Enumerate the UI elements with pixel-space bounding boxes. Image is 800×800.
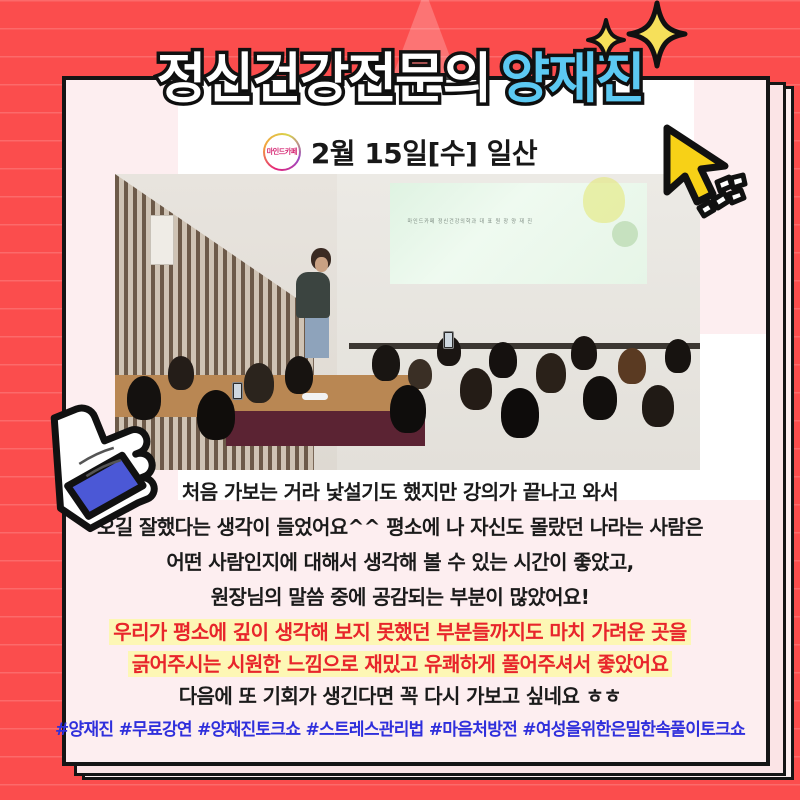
body-line-7: 다음에 또 기회가 생긴다면 꼭 다시 가보고 싶네요 ㅎㅎ bbox=[0, 682, 800, 711]
photo-speaker-face bbox=[315, 257, 328, 272]
body-line-3: 어떤 사람인지에 대해서 생각해 볼 수 있는 시간이 좋았고, bbox=[0, 548, 800, 577]
brand-logo-text: 마인드카페 bbox=[267, 147, 297, 158]
poster-canvas: 정신건강전문의양재진 마인드카페 2월 15일[수] 일산 마인드카페 정신건강… bbox=[0, 0, 800, 800]
photo-slide-balloon-graphic bbox=[583, 177, 625, 223]
photo-slide-text: 마인드카페 정신건강의학과 대 표 원 장 양 재 진 bbox=[408, 218, 607, 226]
brand-logo-icon: 마인드카페 bbox=[263, 133, 301, 171]
body-line-6-highlighted: 긁어주시는 시원한 느낌으로 재밌고 유쾌하게 풀어주셔서 좋았어요 bbox=[0, 650, 800, 679]
lecture-photo: 마인드카페 정신건강의학과 대 표 원 장 양 재 진 bbox=[115, 174, 700, 470]
mouse-cursor-icon bbox=[655, 120, 755, 235]
event-date-text: 2월 15일[수] 일산 bbox=[311, 132, 537, 172]
title-main-text: 정신건강전문의 bbox=[157, 52, 491, 106]
photo-wall-panel bbox=[150, 215, 174, 265]
photo-audience bbox=[115, 328, 700, 470]
sparkle-large-icon bbox=[626, 0, 688, 75]
photo-speaker-body bbox=[296, 272, 330, 318]
hashtag-list: #양재진 #무료강연 #양재진토크쇼 #스트레스관리법 #마음처방전 #여성을위… bbox=[0, 715, 800, 740]
body-line-4: 원장님의 말씀 중에 공감되는 부분이 많았어요! bbox=[0, 583, 800, 612]
body-line-5-highlighted: 우리가 평소에 깊이 생각해 보지 못했던 부분들까지도 마치 가려운 곳을 bbox=[0, 618, 800, 647]
thumbs-up-icon bbox=[18, 398, 173, 538]
sparkle-small-icon bbox=[586, 18, 626, 67]
